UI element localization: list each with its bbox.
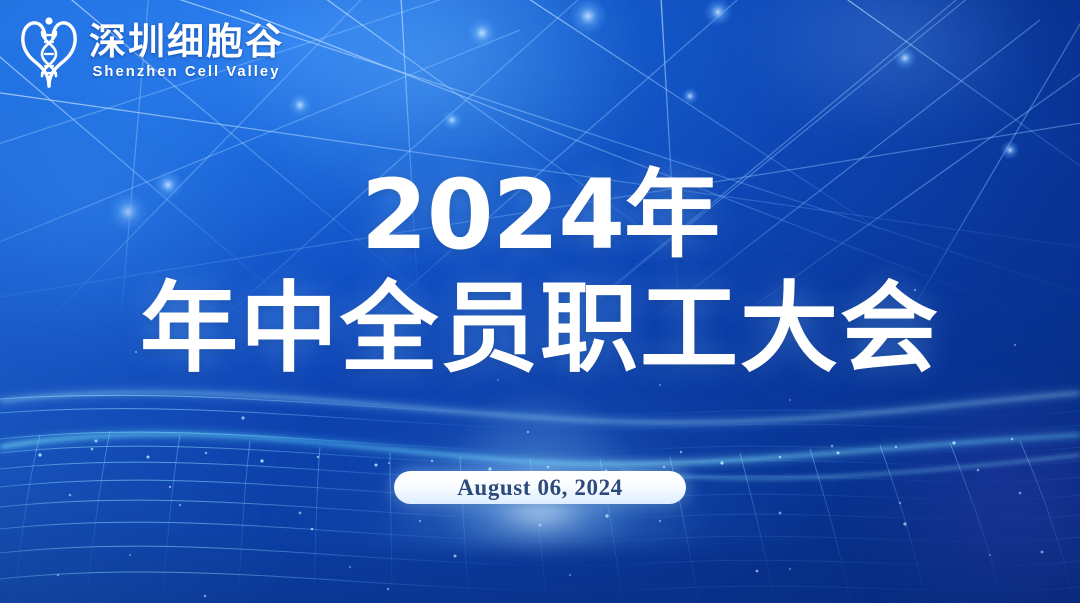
event-poster: 深圳细胞谷 Shenzhen Cell Valley 2024年 年中全员职工大… — [0, 0, 1080, 603]
dna-helix-heart-icon — [18, 14, 80, 88]
brand-name-en: Shenzhen Cell Valley — [87, 65, 286, 80]
date-badge: August 06, 2024 — [394, 471, 686, 504]
brand-name-cn: 深圳细胞谷 — [89, 23, 284, 60]
title-line-year: 2024年 — [0, 163, 1080, 267]
poster-title: 2024年 年中全员职工大会 — [0, 163, 1080, 381]
title-line-event: 年中全员职工大会 — [0, 277, 1080, 381]
brand-wordmark: 深圳细胞谷 Shenzhen Cell Valley — [89, 23, 284, 80]
date-text: August 06, 2024 — [457, 476, 623, 499]
brand-logo[interactable]: 深圳细胞谷 Shenzhen Cell Valley — [18, 14, 284, 88]
